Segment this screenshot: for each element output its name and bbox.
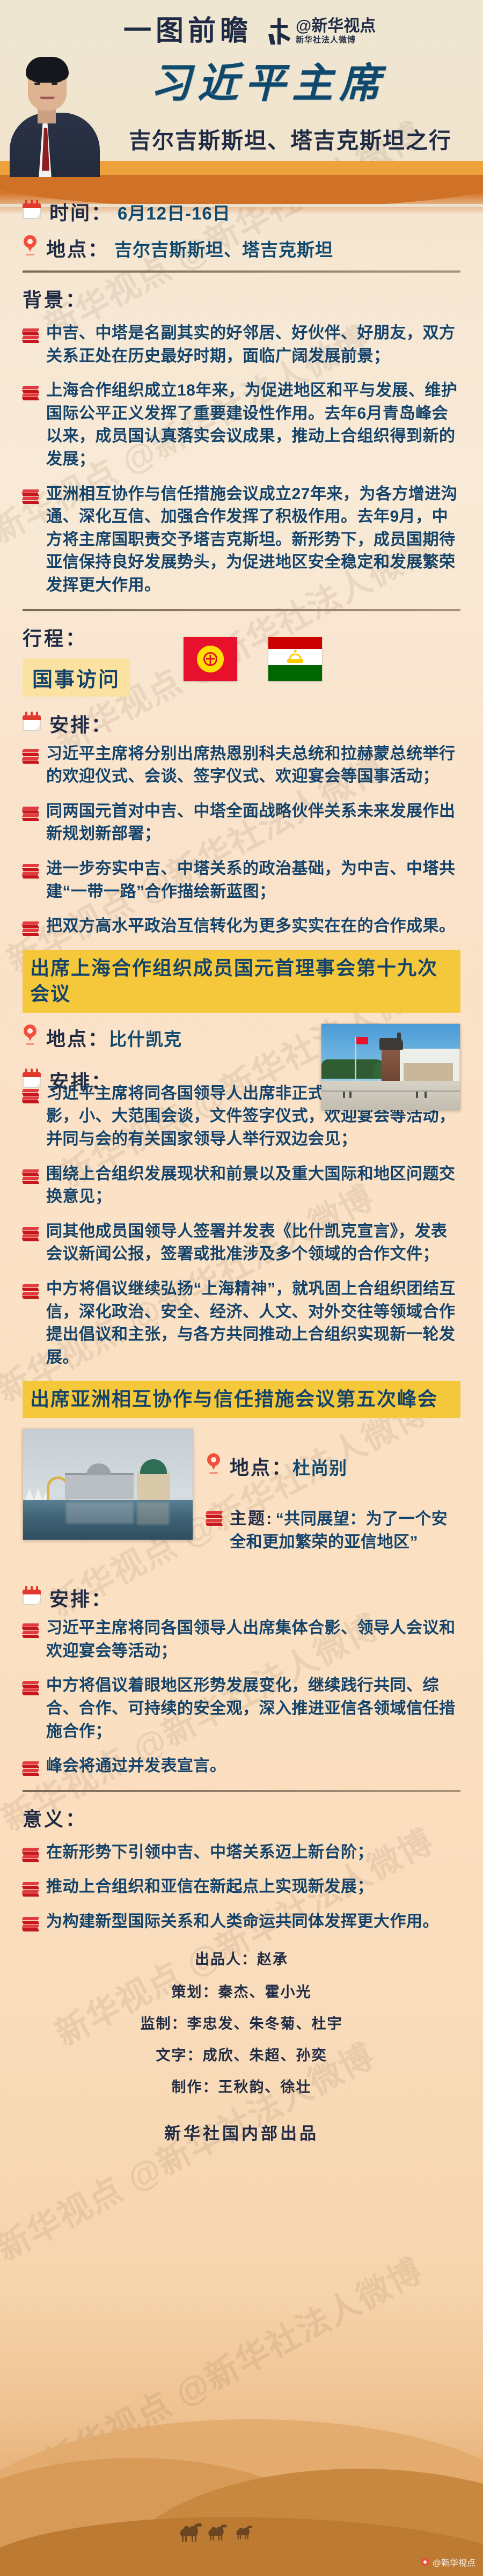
ribbon-bullet-icon <box>23 386 39 400</box>
location-pin-icon <box>23 1024 38 1046</box>
significance-item-text: 为构建新型国际关系和人类命运共同体发挥更大作用。 <box>46 1911 460 1934</box>
cica-item-text: 中方将倡议着眼地区形势发展变化，继续践行共同、综合、合作、可持续的安全观，深入推… <box>46 1674 460 1743</box>
sco-place-row: 地点： 比什凯克 <box>23 1023 308 1051</box>
sco-item-text: 同其他成员国领导人签署并发表《比什凯克宣言》，发表会议新闻公报，签署或批准涉及多… <box>46 1220 460 1266</box>
state-visit-item: 同两国元首对中吉、中塔全面战略伙伴关系未来发展作出新规划新部署； <box>23 800 460 846</box>
cica-item-text: 习近平主席将同各国领导人出席集体合影、领导人会议和欢迎宴会等活动； <box>46 1617 460 1663</box>
place-row: 地点： 吉尔吉斯斯坦、塔吉克斯坦 <box>23 234 460 262</box>
weibo-handle: @新华视点 <box>433 2556 475 2568</box>
itinerary-section: 行程： 国事访问 ★ <box>23 623 460 697</box>
significance-item-text: 在新形势下引领中吉、中塔关系迈上新台阶； <box>46 1841 460 1864</box>
ribbon-bullet-icon <box>23 1882 39 1896</box>
credit-writer: 文字：成欣、朱超、孙奕 <box>23 2044 460 2065</box>
camel-icon <box>177 2523 202 2542</box>
tajikistan-flag: ★ <box>268 637 322 681</box>
ribbon-bullet-icon <box>23 1623 39 1637</box>
significance-item-text: 推动上合组织和亚信在新起点上实现新发展； <box>46 1876 460 1899</box>
credits-block: 出品人：赵承 策划：秦杰、霍小光 监制：李忠发、朱冬菊、杜宇 文字：成欣、朱超、… <box>23 1948 460 2144</box>
time-label: 时间： <box>49 197 112 225</box>
weibo-watermark: @新华视点 <box>421 2556 475 2568</box>
background-item: 上海合作组织成立18年来，为促进地区和平与发展、维护国际公平正义发挥了重要建设性… <box>23 379 460 471</box>
kicker-label: 一图前瞻 <box>123 17 252 45</box>
significance-item: 为构建新型国际关系和人类命运共同体发挥更大作用。 <box>23 1911 460 1934</box>
credit-maker: 制作：王秋韵、徐壮 <box>23 2075 460 2096</box>
cica-top-row: 地点： 杜尚别 主题: “共同展望：为了一个安全和更加繁荣的亚信地区” <box>23 1429 460 1565</box>
calendar-icon <box>23 712 41 731</box>
credit-final: 新华社国内部出品 <box>23 2120 460 2144</box>
state-visit-item-text: 同两国元首对中吉、中塔全面战略伙伴关系未来发展作出新规划新部署； <box>46 800 460 846</box>
ribbon-bullet-icon <box>23 1761 39 1775</box>
ribbon-bullet-icon <box>23 1848 39 1862</box>
itinerary-tag: 国事访问 <box>23 658 130 697</box>
cica-theme-label: 主题: <box>230 1509 273 1528</box>
background-item-text: 上海合作组织成立18年来，为促进地区和平与发展、维护国际公平正义发挥了重要建设性… <box>46 379 460 471</box>
xinhua-logo: @新华视点 新华社法人微博 <box>267 18 376 45</box>
state-visit-item-text: 习近平主席将分别出席热恩别科夫总统和拉赫蒙总统举行的欢迎仪式、会谈、签字仪式、欢… <box>46 743 460 788</box>
ribbon-bullet-icon <box>23 489 39 503</box>
location-pin-icon <box>206 1453 221 1475</box>
xi-jinping-portrait <box>0 33 107 177</box>
sco-place-value: 比什凯克 <box>109 1025 182 1051</box>
camel-icon <box>234 2526 252 2539</box>
sco-item-text: 中方将倡议继续弘扬“上海精神”，就巩固上合组织团结互信，深化政治、安全、经济、人… <box>46 1278 460 1369</box>
ribbon-bullet-icon <box>23 1917 39 1931</box>
credit-producer: 出品人：赵承 <box>23 1948 460 1968</box>
divider-2 <box>23 609 460 611</box>
cica-item: 习近平主席将同各国领导人出席集体合影、领导人会议和欢迎宴会等活动； <box>23 1617 460 1663</box>
brand-subtitle: 新华社法人微博 <box>296 36 376 45</box>
weibo-icon <box>421 2558 429 2566</box>
cica-heading: 出席亚洲相互协作与信任措施会议第五次峰会 <box>23 1381 460 1418</box>
page-title: 习近平主席 <box>150 63 386 104</box>
location-pin-icon <box>23 235 38 257</box>
background-item: 亚洲相互协作与信任措施会议成立27年来，为各方增进沟通、深化互信、加强合作发挥了… <box>23 483 460 597</box>
dushanbe-photo <box>23 1429 193 1540</box>
state-visit-item: 进一步夯实中吉、中塔关系的政治基础，为中吉、中塔共建“一带一路”合作描绘新蓝图； <box>23 858 460 903</box>
significance-label: 意义： <box>23 1804 460 1832</box>
cica-item: 中方将倡议着眼地区形势发展变化，继续践行共同、综合、合作、可持续的安全观，深入推… <box>23 1674 460 1743</box>
bishkek-photo <box>321 1023 460 1110</box>
camel-icon <box>206 2524 227 2540</box>
state-visit-item: 习近平主席将分别出席热恩别科夫总统和拉赫蒙总统举行的欢迎仪式、会谈、签字仪式、欢… <box>23 743 460 788</box>
ribbon-bullet-icon <box>23 328 39 342</box>
brand-row: 一图前瞻 @新华视点 新华社法人微博 <box>123 17 376 45</box>
ribbon-bullet-icon <box>23 1284 39 1298</box>
page-subtitle: 吉尔吉斯斯坦、塔吉克斯坦之行 <box>129 122 452 155</box>
place-value: 吉尔吉斯斯坦、塔吉克斯坦 <box>114 236 333 261</box>
cica-arrange-row: 安排： <box>23 1584 460 1612</box>
ribbon-bullet-icon <box>23 1169 39 1183</box>
background-item-text: 中吉、中塔是名副其实的好邻居、好伙伴、好朋友，双方关系正处在历史最好时期，面临广… <box>46 322 460 368</box>
ribbon-bullet-icon <box>23 921 39 935</box>
state-visit-arrange-row: 安排： <box>23 709 460 737</box>
calendar-icon <box>23 1069 41 1088</box>
cica-place-value: 杜尚别 <box>292 1454 347 1480</box>
ribbon-bullet-icon <box>23 749 39 763</box>
background-label: 背景： <box>23 284 460 312</box>
background-item: 中吉、中塔是名副其实的好邻居、好伙伴、好朋友，双方关系正处在历史最好时期，面临广… <box>23 322 460 368</box>
state-visit-item-text: 把双方高水平政治互信转化为更多实实在在的合作成果。 <box>46 915 460 938</box>
background-item-text: 亚洲相互协作与信任措施会议成立27年来，为各方增进沟通、深化互信、加强合作发挥了… <box>46 483 460 597</box>
state-visit-item-text: 进一步夯实中吉、中塔关系的政治基础，为中吉、中塔共建“一带一路”合作描绘新蓝图； <box>46 858 460 903</box>
cica-item: 峰会将通过并发表宣言。 <box>23 1755 460 1778</box>
brand-handle: @新华视点 <box>296 18 376 35</box>
flag-group: ★ <box>184 623 322 681</box>
kyrgyzstan-flag <box>184 637 237 681</box>
significance-item: 在新形势下引领中吉、中塔关系迈上新台阶； <box>23 1841 460 1864</box>
calendar-icon <box>23 1586 41 1605</box>
cica-theme-row: 主题: “共同展望：为了一个安全和更加繁荣的亚信地区” <box>206 1505 460 1554</box>
sco-heading: 出席上海合作组织成员国元首理事会第十九次会议 <box>23 950 460 1013</box>
page-header: 一图前瞻 @新华视点 新华社法人微博 习近平主席 吉尔吉斯斯坦、塔吉克斯坦之行 <box>0 0 483 177</box>
cica-item-text: 峰会将通过并发表宣言。 <box>46 1755 460 1778</box>
infographic-page: 新华视点 @新华社法人微博 新华视点 @新华社法人微博 新华视点 @新华社法人微… <box>0 0 483 2576</box>
sco-item-text: 围绕上合组织发展现状和前景以及重大国际和地区问题交换意见； <box>46 1163 460 1209</box>
camel-caravan <box>177 2523 255 2542</box>
ribbon-bullet-icon <box>23 1089 39 1103</box>
ribbon-bullet-icon <box>23 807 39 821</box>
ribbon-bullet-icon <box>23 1681 39 1695</box>
bottom-dunes <box>0 2399 483 2576</box>
calendar-icon <box>23 200 41 219</box>
divider-1 <box>23 270 460 273</box>
ribbon-bullet-icon <box>23 1227 39 1241</box>
state-visit-item: 把双方高水平政治互信转化为更多实实在在的合作成果。 <box>23 915 460 938</box>
cica-place-label: 地点： <box>230 1452 292 1480</box>
state-visit-arrange-label: 安排： <box>49 709 112 737</box>
time-value: 6月12日-16日 <box>118 199 231 225</box>
content-body: 时间： 6月12日-16日 地点： 吉尔吉斯斯坦、塔吉克斯坦 背景： 中吉、中塔… <box>0 177 483 2144</box>
itinerary-label: 行程： <box>23 623 184 651</box>
significance-item: 推动上合组织和亚信在新起点上实现新发展； <box>23 1876 460 1899</box>
time-row: 时间： 6月12日-16日 <box>23 197 460 225</box>
sco-item: 围绕上合组织发展现状和前景以及重大国际和地区问题交换意见； <box>23 1163 460 1209</box>
cica-place-row: 地点： 杜尚别 <box>206 1452 460 1480</box>
xinhua-mark-icon <box>267 18 291 45</box>
ribbon-bullet-icon <box>206 1511 222 1525</box>
place-label: 地点： <box>46 234 109 262</box>
sco-item: 中方将倡议继续弘扬“上海精神”，就巩固上合组织团结互信，深化政治、安全、经济、人… <box>23 1278 460 1369</box>
cica-arrange-label: 安排： <box>49 1584 112 1612</box>
credit-supervisor: 监制：李忠发、朱冬菊、杜宇 <box>23 2012 460 2033</box>
credit-planner: 策划：秦杰、霍小光 <box>23 1980 460 2001</box>
sco-item: 同其他成员国领导人签署并发表《比什凯克宣言》，发表会议新闻公报，签署或批准涉及多… <box>23 1220 460 1266</box>
ribbon-bullet-icon <box>23 864 39 878</box>
divider-3 <box>23 1790 460 1792</box>
sco-place-label: 地点： <box>46 1023 109 1051</box>
